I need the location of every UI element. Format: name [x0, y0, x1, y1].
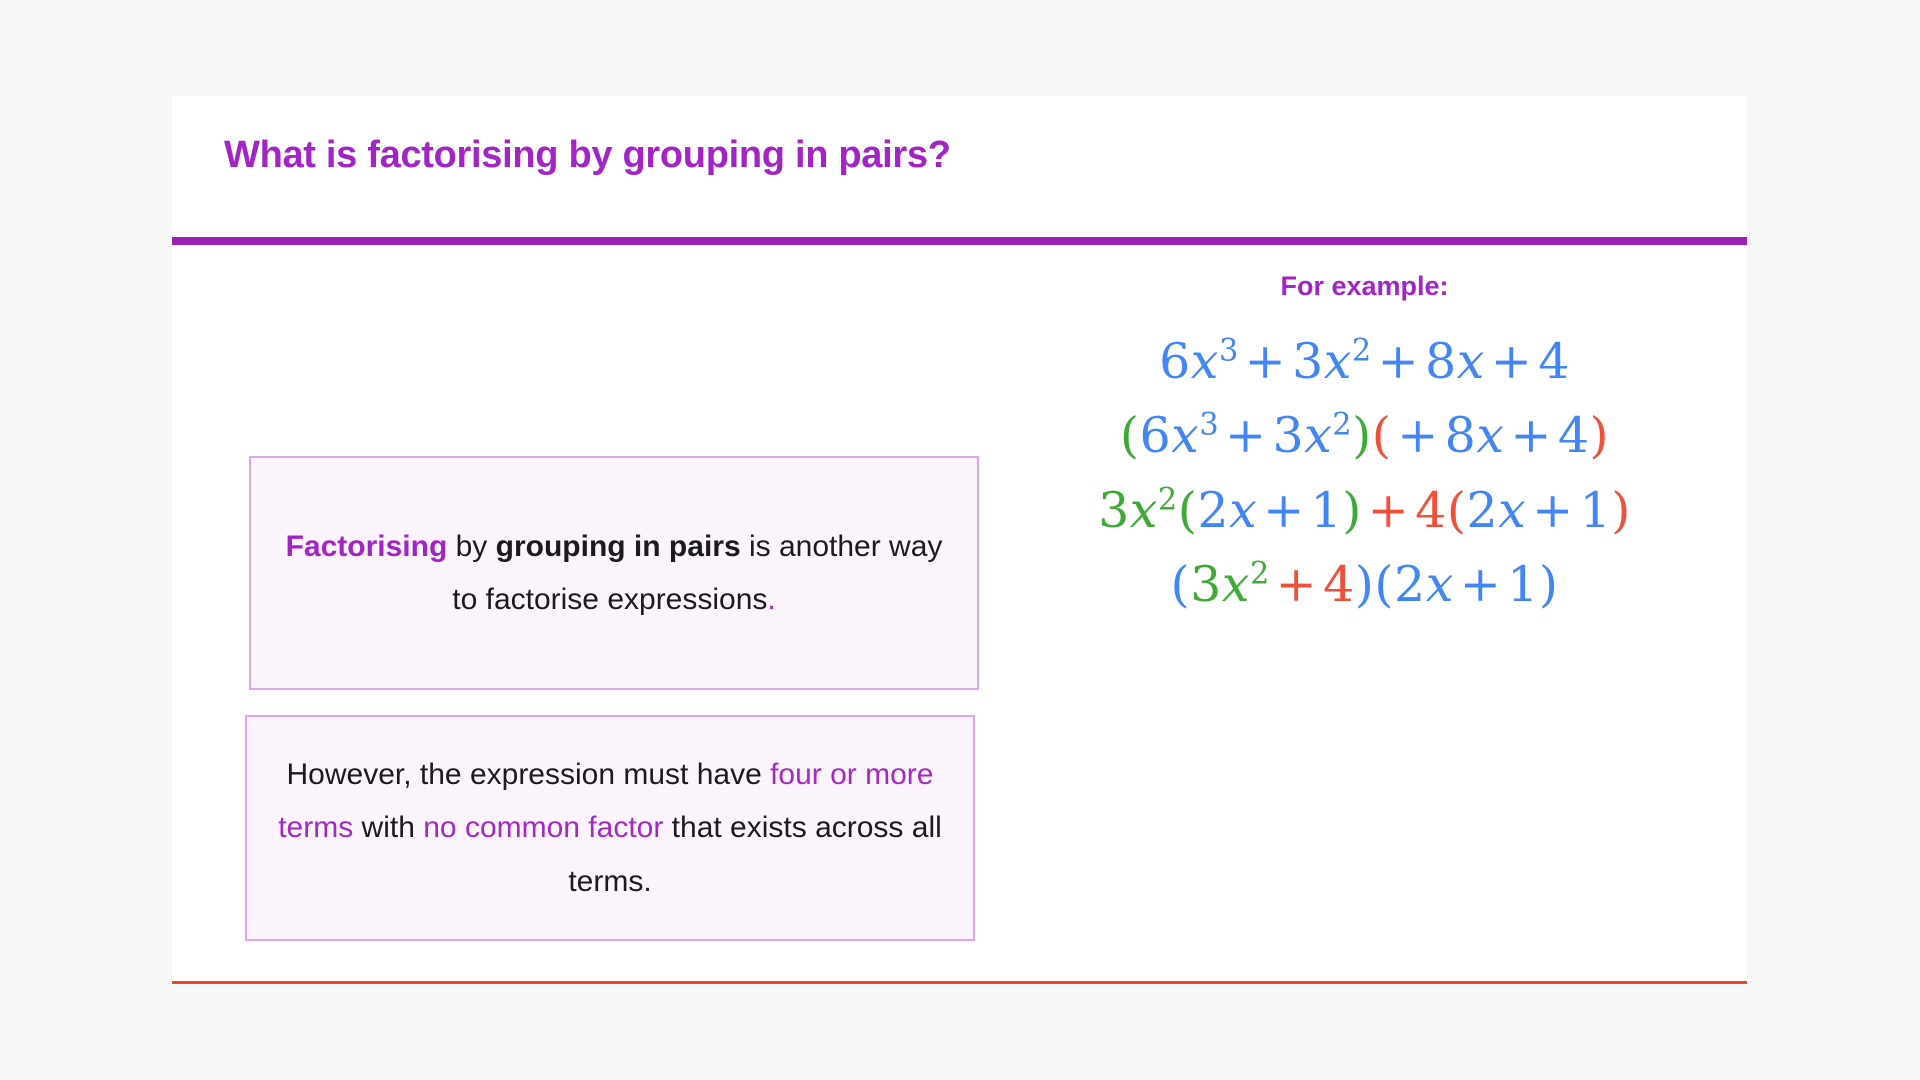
line-1-original-expression: 6x3+3x2+8x+4: [982, 325, 1747, 399]
card-bottom-accent-rule: [172, 981, 1747, 984]
condition-connector-with: with: [353, 811, 423, 844]
condition-box-secondary: However, the expression must have four o…: [245, 715, 975, 941]
definition-keyword-factorising: Factorising: [286, 530, 448, 563]
worked-example-steps: 6x3+3x2+8x+4(6x3+3x2)(+8x+4)3x2(2x+1)+4(…: [982, 325, 1747, 623]
definition-box-primary-text: Factorising by grouping in pairs is anot…: [251, 520, 977, 627]
example-column: For example: 6x3+3x2+8x+4(6x3+3x2)(+8x+4…: [982, 245, 1747, 981]
definition-keyword-grouping-in-pairs: grouping in pairs: [496, 530, 741, 563]
condition-box-secondary-text: However, the expression must have four o…: [247, 748, 973, 908]
definition-column: Factorising by grouping in pairs is anot…: [172, 245, 982, 981]
line-4-fully-factorised: (3x2+4)(2x+1): [982, 548, 1747, 622]
line-2-grouped-pairs: (6x3+3x2)(+8x+4): [982, 399, 1747, 473]
condition-lead-text: However, the expression must have: [287, 758, 771, 791]
page-title: What is factorising by grouping in pairs…: [224, 134, 951, 177]
line-3-common-factors-extracted: 3x2(2x+1)+4(2x+1): [982, 474, 1747, 548]
card-header: What is factorising by grouping in pairs…: [172, 96, 1747, 243]
slide-root: What is factorising by grouping in pairs…: [0, 0, 1920, 1080]
header-divider-rule: [172, 237, 1747, 245]
card-body: Factorising by grouping in pairs is anot…: [172, 245, 1747, 981]
definition-connector-by: by: [447, 530, 495, 563]
definition-trailing-period: .: [767, 583, 775, 616]
example-heading: For example:: [982, 271, 1747, 302]
condition-keyword-no-common-factor: no common factor: [423, 811, 663, 844]
lesson-card: What is factorising by grouping in pairs…: [172, 96, 1747, 984]
definition-box-primary: Factorising by grouping in pairs is anot…: [249, 456, 979, 690]
